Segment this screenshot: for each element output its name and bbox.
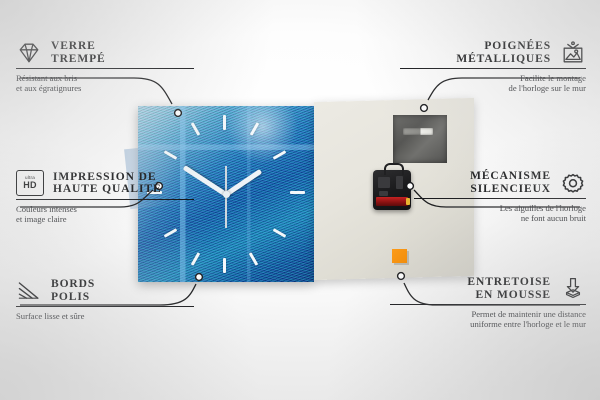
foam-spacer-icon	[560, 277, 586, 301]
mechanism-detail	[379, 191, 388, 196]
feature-poignees-metalliques: POIGNÉES MÉTALLIQUES Facilite le montage…	[400, 40, 586, 94]
feature-bords-polis: BORDS POLIS Surface lisse et sûre	[16, 278, 194, 321]
feature-title: MÉCANISME SILENCIEUX	[470, 170, 551, 195]
feature-subtitle: Facilite le montage de l'horloge sur le …	[400, 73, 586, 94]
feature-subtitle: Résistant aux bris et aux égratignures	[16, 73, 194, 94]
feature-header: MÉCANISME SILENCIEUX	[414, 170, 586, 195]
feature-mecanisme-silencieux: MÉCANISME SILENCIEUX Les aiguilles de l'…	[414, 170, 586, 224]
mechanism-hanging-loop	[384, 163, 404, 175]
feature-subtitle: Couleurs intenses et image claire	[16, 204, 194, 225]
infographic-canvas: VERRE TREMPÉ Résistant aux bris et aux é…	[0, 0, 600, 400]
feature-impression-haute-qualite: ultra HD IMPRESSION DE HAUTE QUALITÉ Cou…	[16, 170, 194, 225]
ultra-hd-icon: ultra HD	[16, 170, 44, 196]
feature-header: POIGNÉES MÉTALLIQUES	[400, 40, 586, 65]
mechanism-detail	[396, 176, 403, 189]
feature-divider	[16, 199, 194, 200]
feature-subtitle: Permet de maintenir une distance uniform…	[390, 309, 586, 330]
battery-part	[376, 197, 408, 206]
clock-mechanism-part	[373, 170, 411, 210]
picture-hanger-icon	[560, 41, 586, 65]
feature-title: ENTRETOISE EN MOUSSE	[467, 276, 551, 301]
feature-header: ultra HD IMPRESSION DE HAUTE QUALITÉ	[16, 170, 194, 196]
feature-subtitle: Les aiguilles de l'horloge ne font aucun…	[414, 203, 586, 224]
feature-title: POIGNÉES MÉTALLIQUES	[456, 40, 551, 65]
feature-verre-trempe: VERRE TREMPÉ Résistant aux bris et aux é…	[16, 40, 194, 94]
gear-icon	[560, 171, 586, 195]
hanger-slot	[403, 128, 433, 135]
foam-spacer-part	[392, 249, 407, 263]
feature-divider	[390, 304, 586, 305]
feature-divider	[414, 198, 586, 199]
polished-edges-icon	[16, 279, 42, 303]
feature-subtitle: Surface lisse et sûre	[16, 311, 194, 322]
feature-title: IMPRESSION DE HAUTE QUALITÉ	[53, 171, 162, 196]
feature-header: VERRE TREMPÉ	[16, 40, 194, 65]
diamond-icon	[16, 41, 42, 65]
mechanism-detail	[378, 177, 390, 188]
feature-entretoise-en-mousse: ENTRETOISE EN MOUSSE Permet de maintenir…	[390, 276, 586, 330]
feature-divider	[16, 306, 194, 307]
metal-hanger-part	[393, 115, 447, 163]
feature-title: BORDS POLIS	[51, 278, 95, 303]
feature-header: ENTRETOISE EN MOUSSE	[390, 276, 586, 301]
feature-title: VERRE TREMPÉ	[51, 40, 106, 65]
feature-header: BORDS POLIS	[16, 278, 194, 303]
feature-divider	[400, 68, 586, 69]
feature-divider	[16, 68, 194, 69]
ultra-hd-icon-main: HD	[23, 181, 37, 190]
